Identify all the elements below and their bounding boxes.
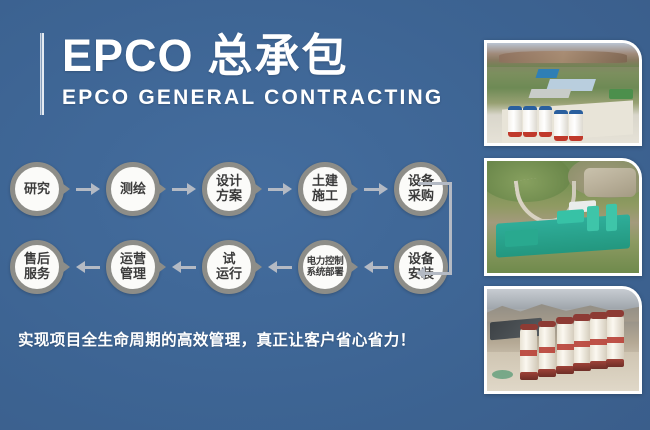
node-tab-icon	[254, 261, 262, 273]
photo1-blue-building	[536, 69, 560, 78]
flow-node-power-control-system-deployment[interactable]: 电力控制 系统部署	[298, 240, 352, 294]
flow-node-operation-management[interactable]: 运营 管理	[106, 240, 160, 294]
photo-inner	[487, 289, 639, 391]
banner-caption: 实现项目全生命周期的高效管理，真正让客户省心省力！	[18, 328, 416, 350]
photo1-ridge	[499, 51, 627, 63]
flow-arrow-left-1	[76, 260, 100, 274]
node-tab-icon	[62, 183, 70, 195]
arrow-head-icon	[268, 261, 277, 273]
epco-banner: EPCO总承包 EPCO GENERAL CONTRACTING 研究 测绘 设…	[0, 0, 650, 430]
arrow-head-icon	[379, 183, 388, 195]
flow-node-trial-run[interactable]: 试 运行	[202, 240, 256, 294]
arrow-head-icon	[76, 261, 85, 273]
photo-2-art	[487, 161, 639, 273]
flow-node-design-plan[interactable]: 设计 方案	[202, 162, 256, 216]
photo3-pond	[492, 370, 513, 379]
page-title: EPCO总承包	[62, 30, 443, 82]
flow-node-label: 土建 施工	[312, 174, 338, 204]
arrow-head-icon	[364, 261, 373, 273]
photo3-silo-band	[590, 339, 607, 345]
flow-arrow-left-4	[364, 260, 388, 274]
photo3-silo	[520, 328, 537, 375]
photo3-silo-band	[539, 347, 556, 353]
photo2-tower	[606, 203, 617, 231]
flow-node-label: 售后 服务	[24, 252, 50, 282]
flow-arrow-right-2	[172, 182, 196, 196]
flow-node-label: 试 运行	[216, 252, 242, 282]
arrow-head-icon	[91, 183, 100, 195]
photo-3-art	[487, 289, 639, 391]
process-flow-diagram: 研究 测绘 设计 方案 土建 施工 设备 采购	[0, 152, 470, 312]
flow-node-research[interactable]: 研究	[10, 162, 64, 216]
node-tab-icon	[254, 183, 262, 195]
node-tab-icon	[350, 261, 358, 273]
flow-node-surveying[interactable]: 测绘	[106, 162, 160, 216]
photo3-silo	[590, 317, 607, 364]
flow-arrow-right-4	[364, 182, 388, 196]
photo2-roof	[505, 229, 538, 247]
node-tab-icon	[62, 261, 70, 273]
photo2-tower	[587, 205, 599, 230]
page-subtitle: EPCO GENERAL CONTRACTING	[62, 85, 443, 111]
flow-arrow-right-1	[76, 182, 100, 196]
photo3-silo	[574, 319, 591, 366]
photo3-silo	[557, 322, 574, 369]
photo-inner	[487, 43, 639, 143]
connector-segment-bottom	[424, 272, 452, 275]
photo1-silo	[508, 106, 522, 137]
flow-arrow-left-3	[268, 260, 292, 274]
flow-arrow-left-2	[172, 260, 196, 274]
photo-inner	[487, 161, 639, 273]
photo1-silo	[523, 106, 537, 137]
connector-arrow-head-icon	[416, 267, 425, 279]
photo-silo-row	[484, 286, 642, 394]
flow-node-after-sales-service[interactable]: 售后 服务	[10, 240, 64, 294]
banner-header: EPCO总承包 EPCO GENERAL CONTRACTING	[40, 30, 443, 111]
photo3-silo-band	[557, 344, 574, 350]
flow-node-label: 电力控制 系统部署	[307, 256, 344, 278]
photo3-silo-band	[574, 341, 591, 347]
flow-arrow-right-3	[268, 182, 292, 196]
photo3-silo-band	[607, 337, 624, 343]
flow-node-label: 设计 方案	[216, 174, 242, 204]
flow-node-label: 研究	[24, 182, 50, 197]
photo1-silo	[554, 110, 568, 141]
title-accent-bar	[40, 33, 44, 115]
photo1-green-roof	[609, 89, 633, 99]
title-cn: 总承包	[208, 30, 349, 81]
arrow-head-icon	[187, 183, 196, 195]
arrow-shaft	[371, 266, 388, 269]
photo1-silo	[569, 110, 583, 141]
flow-node-label: 测绘	[120, 182, 146, 197]
photo3-silo	[539, 325, 556, 372]
photo3-silo-band	[520, 350, 537, 356]
photo2-roof	[557, 209, 584, 224]
connector-segment-top	[418, 182, 452, 185]
flow-node-label: 运营 管理	[120, 252, 146, 282]
arrow-head-icon	[172, 261, 181, 273]
photo-cement-plant-aerial	[484, 40, 642, 146]
title-wrap: EPCO总承包 EPCO GENERAL CONTRACTING	[62, 30, 443, 111]
photo1-silo	[539, 106, 553, 137]
photo3-sky	[487, 289, 639, 309]
arrow-head-icon	[283, 183, 292, 195]
arrow-shaft	[179, 266, 196, 269]
photo2-quarry	[584, 168, 636, 197]
title-en: EPCO	[62, 30, 194, 81]
photo-green-facility-aerial	[484, 158, 642, 276]
node-tab-icon	[158, 261, 166, 273]
photo-1-art	[487, 43, 639, 143]
flow-connector-uturn	[418, 182, 458, 280]
photo1-secondary-building	[528, 89, 570, 98]
photo3-silo	[607, 315, 624, 362]
node-tab-icon	[350, 183, 358, 195]
flow-node-civil-construction[interactable]: 土建 施工	[298, 162, 352, 216]
connector-segment-right	[449, 182, 452, 275]
node-tab-icon	[158, 183, 166, 195]
arrow-shaft	[275, 266, 292, 269]
arrow-shaft	[83, 266, 100, 269]
